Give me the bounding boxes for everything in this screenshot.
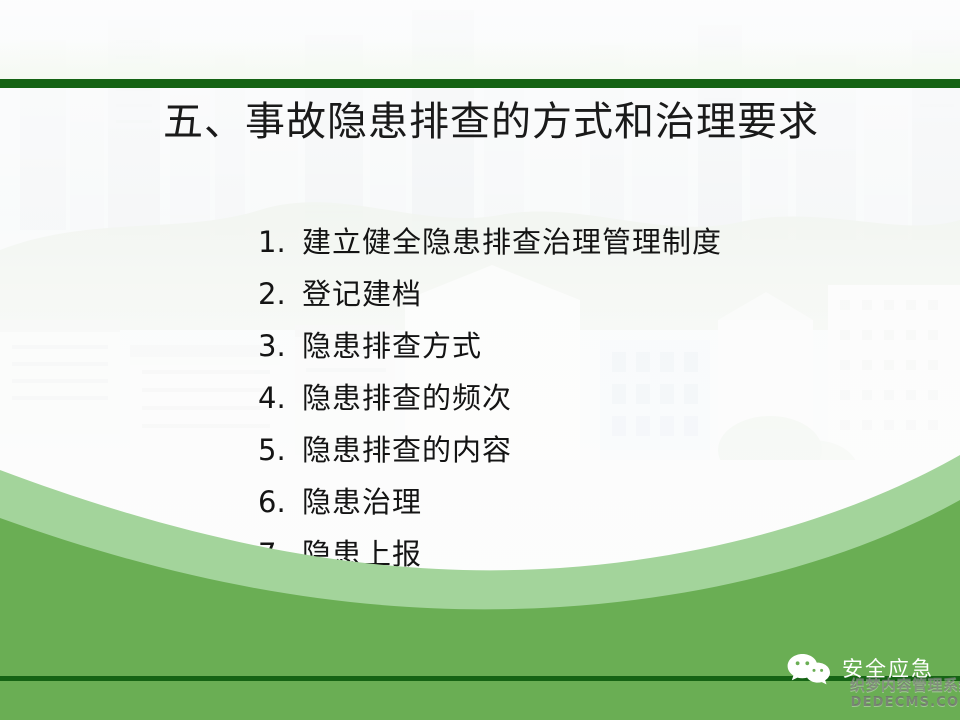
header-divider-rule: [0, 79, 960, 88]
list-item: 5. 隐患排查的内容: [258, 424, 878, 476]
list-item-number: 3.: [258, 320, 302, 372]
slide-title: 五、事故隐患排查的方式和治理要求: [0, 96, 960, 148]
list-item: 3. 隐患排查方式: [258, 320, 878, 372]
list-item: 4. 隐患排查的频次: [258, 372, 878, 424]
wechat-brand-block: 安全应急: [786, 652, 934, 686]
list-item-number: 2.: [258, 268, 302, 320]
list-item: 2. 登记建档: [258, 268, 878, 320]
list-item-number: 1.: [258, 216, 302, 268]
wechat-icon: [786, 652, 832, 686]
list-item-label: 隐患排查的内容: [302, 424, 512, 476]
list-item-number: 6.: [258, 476, 302, 528]
list-item-label: 隐患治理: [302, 476, 422, 528]
list-item: 1. 建立健全隐患排查治理管理制度: [258, 216, 878, 268]
list-item-label: 隐患排查方式: [302, 320, 482, 372]
list-item-number: 7.: [258, 528, 302, 580]
list-item-label: 登记建档: [302, 268, 422, 320]
wechat-brand-label: 安全应急: [842, 656, 934, 682]
agenda-list: 1. 建立健全隐患排查治理管理制度 2. 登记建档 3. 隐患排查方式 4. 隐…: [258, 216, 878, 580]
list-item-number: 4.: [258, 372, 302, 424]
list-item: 7. 隐患上报: [258, 528, 878, 580]
list-item-number: 5.: [258, 424, 302, 476]
list-item-label: 建立健全隐患排查治理管理制度: [302, 216, 722, 268]
list-item-label: 隐患上报: [302, 528, 422, 580]
list-item: 6. 隐患治理: [258, 476, 878, 528]
slide-canvas: 五、事故隐患排查的方式和治理要求 1. 建立健全隐患排查治理管理制度 2. 登记…: [0, 0, 960, 720]
list-item-label: 隐患排查的频次: [302, 372, 512, 424]
